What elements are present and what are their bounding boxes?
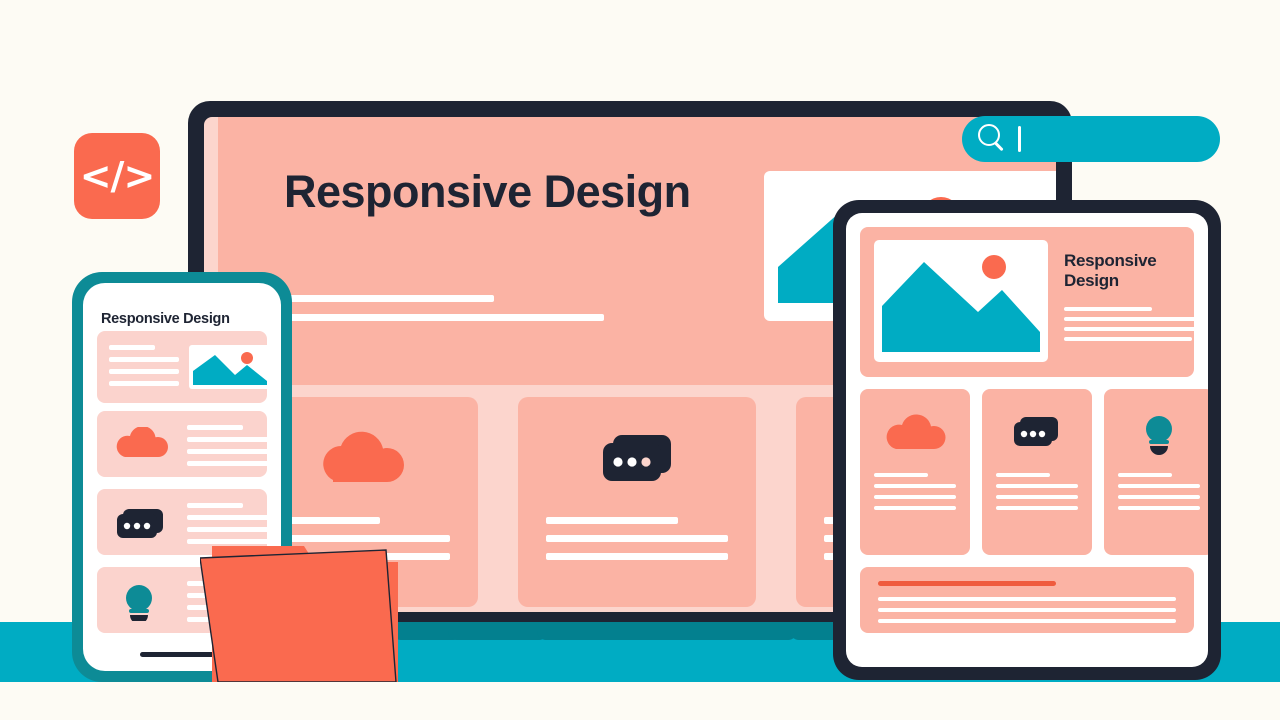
search-icon — [978, 124, 1008, 154]
tablet-card-chat[interactable] — [982, 389, 1092, 555]
tablet-card-chat-lines — [996, 473, 1078, 517]
phone-image-placeholder — [189, 345, 271, 389]
tablet-footer-card[interactable] — [860, 567, 1194, 633]
tablet-heading: Responsive Design — [1064, 251, 1204, 291]
phone-card-cloud-lines — [187, 425, 271, 473]
tablet-hero-image-placeholder — [874, 240, 1048, 362]
tablet-footer-accent-line — [878, 581, 1056, 586]
tablet-hero-section: Responsive Design — [860, 227, 1194, 377]
chat-icon — [982, 411, 1092, 457]
image-placeholder-icon — [874, 240, 1048, 362]
image-placeholder-icon — [189, 345, 271, 389]
folder-icon[interactable] — [200, 522, 400, 682]
phone-card-hero[interactable] — [97, 331, 267, 403]
desk-key — [448, 622, 548, 640]
phone-heading: Responsive Design — [101, 311, 230, 327]
chat-icon — [518, 429, 756, 491]
desktop-card-chat[interactable] — [518, 397, 756, 607]
tablet-footer-text-lines — [878, 597, 1176, 630]
illustration-canvas: </> Responsive Design — [0, 0, 1280, 720]
lightbulb-icon — [115, 581, 163, 626]
tablet-card-lightbulb[interactable] — [1104, 389, 1208, 555]
lightbulb-icon — [1104, 411, 1208, 457]
code-badge-glyph: </> — [80, 157, 155, 195]
tablet-hero-text-lines — [1064, 307, 1206, 347]
cloud-icon — [860, 411, 970, 457]
phone-card-cloud[interactable] — [97, 411, 267, 477]
tablet-screen: Responsive Design — [846, 213, 1208, 667]
desktop-card-chat-lines — [546, 517, 728, 571]
desk-key — [537, 622, 797, 640]
tablet-mockup[interactable]: Responsive Design — [833, 200, 1221, 680]
phone-card-hero-lines — [109, 345, 179, 393]
desktop-hero-text-lines — [284, 295, 604, 333]
chat-icon — [113, 507, 169, 546]
tablet-feature-cards — [860, 389, 1194, 555]
code-icon[interactable]: </> — [74, 133, 160, 219]
search-input[interactable] — [962, 116, 1220, 162]
tablet-card-lightbulb-lines — [1118, 473, 1200, 517]
desktop-heading: Responsive Design — [284, 165, 704, 218]
tablet-card-cloud[interactable] — [860, 389, 970, 555]
cloud-icon — [111, 427, 171, 466]
tablet-card-cloud-lines — [874, 473, 956, 517]
search-text-cursor — [1018, 126, 1021, 152]
